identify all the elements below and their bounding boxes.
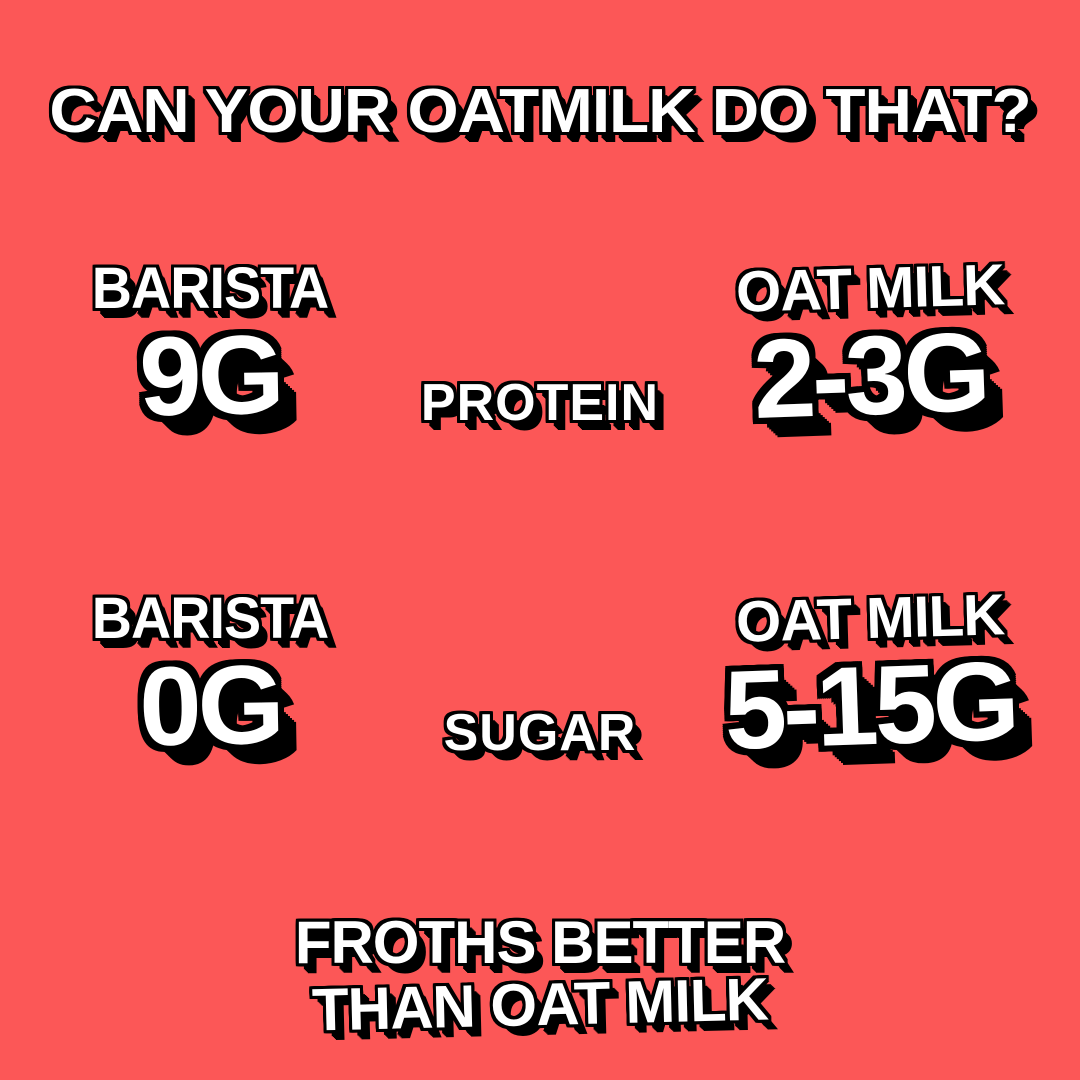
oatmilk-column-protein: OAT MILK 2-3G [670,255,1070,485]
value-oat-milk-sugar: 5-15G [668,634,1072,777]
barista-column-sugar: BARISTA 0G [10,585,410,815]
poster-canvas: CAN YOUR OATMILK DO THAT? BARISTA 9G PRO… [0,0,1080,1080]
page-title: CAN YOUR OATMILK DO THAT? [0,76,1080,147]
comparison-row-protein: BARISTA 9G PROTEIN OAT MILK 2-3G [0,255,1080,485]
comparison-row-sugar: BARISTA 0G SUGAR OAT MILK 5-15G [0,585,1080,815]
footer-tagline-line-2: THAN OAT MILK [0,961,1080,1049]
value-oat-milk-protein: 2-3G [668,304,1072,447]
oatmilk-column-sugar: OAT MILK 5-15G [670,585,1070,815]
barista-column-protein: BARISTA 9G [10,255,410,485]
footer-tagline: FROTHS BETTER THAN OAT MILK [0,912,1080,1036]
